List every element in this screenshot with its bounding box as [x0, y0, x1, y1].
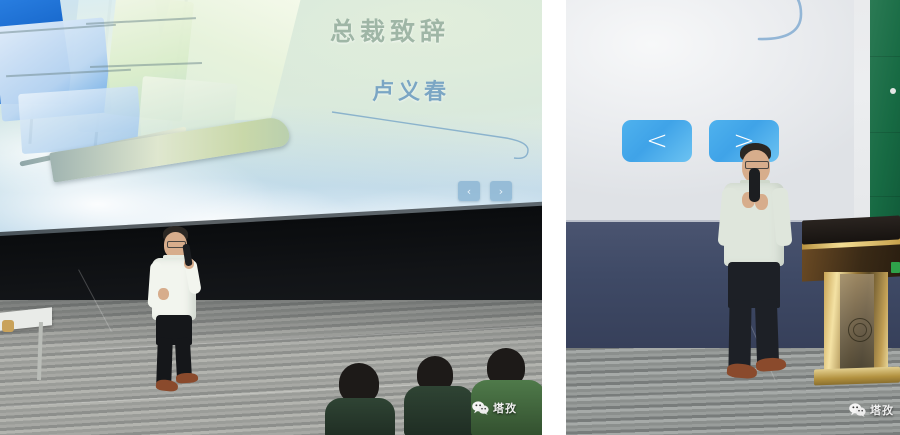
screen-prev-button[interactable]: < — [622, 120, 692, 162]
slide-title: 总裁致辞 — [330, 12, 450, 48]
table-object — [2, 320, 14, 332]
slide-nav-buttons[interactable]: ‹ › — [458, 181, 512, 201]
watermark-text: 塔孜 — [870, 402, 894, 418]
slide-prev-button[interactable]: ‹ — [458, 181, 480, 201]
photo-left: 总裁致辞 卢义春 ‹ › — [0, 0, 542, 435]
photo-right: < > — [566, 0, 900, 435]
slide-arc-decoration — [751, 0, 813, 46]
slide-subtitle: 卢义春 — [372, 74, 450, 106]
watermark-left: 塔孜 — [472, 400, 517, 416]
slide-swoosh-decoration — [330, 108, 535, 162]
watermark-right: 塔孜 — [849, 402, 894, 418]
green-wall-panel-inner — [870, 0, 900, 228]
slide-sailing-ship — [0, 0, 320, 224]
wechat-icon — [472, 401, 489, 415]
wechat-icon — [849, 403, 866, 417]
slide-next-button[interactable]: › — [490, 181, 512, 201]
exit-indicator — [891, 262, 900, 273]
chevron-left-icon: < — [646, 128, 668, 154]
wall-dot — [890, 88, 896, 94]
watermark-text: 塔孜 — [493, 400, 517, 416]
photo-collage: 总裁致辞 卢义春 ‹ › — [0, 0, 900, 435]
